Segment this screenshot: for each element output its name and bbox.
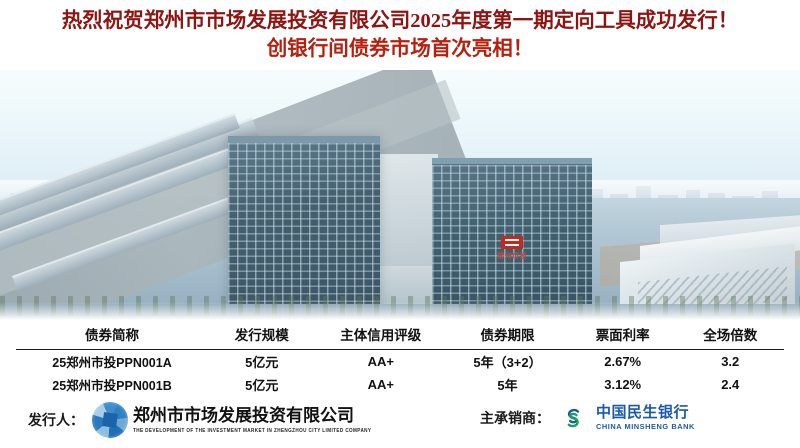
underwriter-group: 主承销商： 中国民生银行 CHINA MINSHENG BANK [480,405,695,431]
bond-details-table: 债券简称 发行规模 主体信用评级 债券期限 票面利率 全场倍数 25郑州市投PP… [16,320,784,396]
cell-issue-size: 5亿元 [208,350,316,374]
curtain-wall-grid [228,143,380,320]
cell-bond-name: 25郑州市投PPN001A [16,350,208,374]
cell-issue-size: 5亿元 [208,373,316,396]
col-header-bond-name: 债券简称 [16,320,208,350]
col-header-subscription-multiple: 全场倍数 [676,320,784,350]
building-signage: 郑州市投 [489,236,535,264]
issuer-name-cn: 郑州市市场发展投资有限公司 [133,406,354,425]
footer-bar: 发行人： 郑州市市场发展投资有限公司 THE DEVELOPMENT OF TH… [0,396,800,448]
col-header-credit-rating: 主体信用评级 [316,320,447,350]
issuer-group: 发行人： 郑州市市场发展投资有限公司 THE DEVELOPMENT OF TH… [28,402,371,438]
cell-coupon-rate: 2.67% [569,350,677,374]
underwriter-label: 主承销商： [480,408,550,428]
bond-table-zone: 债券简称 发行规模 主体信用评级 债券期限 票面利率 全场倍数 25郑州市投PP… [0,320,800,396]
company-mark-icon [501,236,523,249]
cell-subscription-multiple: 3.2 [676,350,784,374]
col-header-issue-size: 发行规模 [208,320,316,350]
tower-parapet [432,158,592,164]
underwriter-name-cn: 中国民生银行 [596,404,689,421]
building-sign-label: 郑州市投 [489,251,535,261]
issuer-logo-text: 郑州市市场发展投资有限公司 THE DEVELOPMENT OF THE INV… [133,407,371,433]
minsheng-logo-icon [560,405,586,431]
photo-bottom-fade [0,302,800,320]
issuer-logo: 郑州市市场发展投资有限公司 THE DEVELOPMENT OF THE INV… [92,402,371,438]
table-row: 25郑州市投PPN001A 5亿元 AA+ 5年（3+2） 2.67% 3.2 [16,350,784,374]
cell-subscription-multiple: 2.4 [676,373,784,396]
issuer-name-en: THE DEVELOPMENT OF THE INVESTMENT MARKET… [133,428,371,434]
tower-parapet [228,136,380,143]
primary-glass-tower [228,136,380,320]
issuer-label: 发行人： [28,410,84,430]
table-row: 25郑州市投PPN001B 5亿元 AA+ 5年 3.12% 2.4 [16,373,784,396]
col-header-tenor: 债券期限 [446,320,569,350]
cell-credit-rating: AA+ [316,350,447,374]
cell-bond-name: 25郑州市投PPN001B [16,373,208,396]
cell-tenor: 5年 [446,373,569,396]
hero-photo: 郑州市投 [0,70,800,320]
col-header-coupon-rate: 票面利率 [569,320,677,350]
headline-line-1: 热烈祝贺郑州市市场发展投资有限公司2025年度第一期定向工具成功发行！ [0,8,800,35]
headline-block: 热烈祝贺郑州市市场发展投资有限公司2025年度第一期定向工具成功发行！ 创银行间… [0,0,800,72]
cell-tenor: 5年（3+2） [446,350,569,374]
headline-line-2: 创银行间债券市场首次亮相！ [0,35,800,63]
table-header-row: 债券简称 发行规模 主体信用评级 债券期限 票面利率 全场倍数 [16,320,784,350]
underwriter-name-en: CHINA MINSHENG BANK [596,423,695,430]
cell-credit-rating: AA+ [316,373,447,396]
cell-coupon-rate: 3.12% [569,373,677,396]
pinwheel-icon [92,402,128,438]
underwriter-logo-text: 中国民生银行 CHINA MINSHENG BANK [596,405,695,430]
